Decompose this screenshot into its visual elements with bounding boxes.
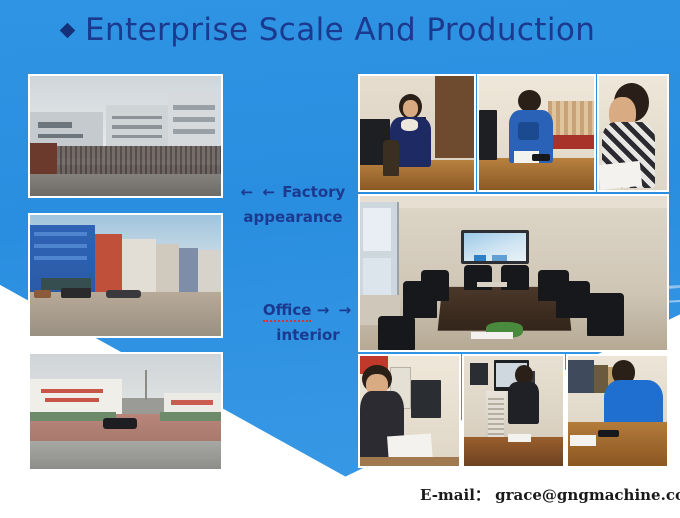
callout-office-interior: Office → → interior: [248, 298, 368, 348]
callout-office-line-1: Office → →: [248, 298, 368, 323]
meeting-room-photo: [358, 194, 669, 352]
diamond-bullet-icon: [60, 22, 76, 38]
arrow-right-icon: → →: [317, 301, 353, 319]
office-work-photo-3: [566, 354, 669, 468]
office-work-photo-1: [358, 354, 461, 468]
callout-factory-label-1: Factory: [282, 183, 345, 201]
factory-yard-photo: [28, 213, 223, 338]
callout-office-label-1: Office: [263, 301, 312, 322]
callout-office-label-2: interior: [248, 323, 368, 348]
arrow-left-icon: ← ←: [241, 183, 277, 201]
callout-factory-label-2: appearance: [228, 205, 358, 230]
contact-email: E-mail： grace@gngmachine.com: [420, 484, 670, 505]
slide-root: Enterprise Scale And Production: [0, 0, 680, 518]
slide-title-row: Enterprise Scale And Production: [62, 6, 595, 54]
office-desk-photo-1: [358, 74, 476, 192]
office-desk-photo-2: [477, 74, 596, 192]
factory-entrance-photo: [28, 352, 223, 471]
office-work-photo-2: [462, 354, 565, 468]
page-title: Enterprise Scale And Production: [85, 12, 595, 48]
callout-factory-line-1: ← ← Factory: [228, 180, 358, 205]
office-desk-photo-3: [597, 74, 669, 192]
callout-factory-appearance: ← ← Factory appearance: [228, 180, 358, 230]
factory-gate-photo: [28, 74, 223, 198]
